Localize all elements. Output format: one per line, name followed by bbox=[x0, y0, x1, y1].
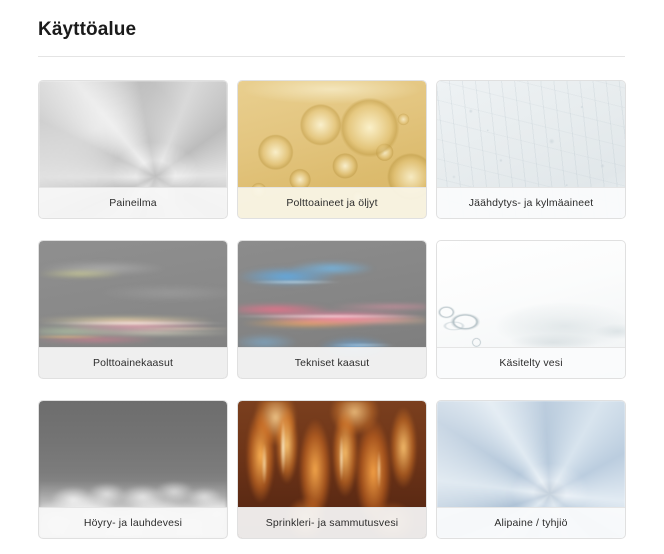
card-label: Jäähdytys- ja kylmäaineet bbox=[437, 187, 625, 218]
page-title: Käyttöalue bbox=[38, 18, 626, 42]
card-hoyry-ja-lauhdevesi[interactable]: Höyry- ja lauhdevesi bbox=[38, 400, 228, 539]
page-header: Käyttöalue bbox=[0, 0, 664, 57]
card-alipaine-tyhjio[interactable]: Alipaine / tyhjiö bbox=[436, 400, 626, 539]
card-label: Polttoaineet ja öljyt bbox=[238, 187, 426, 218]
card-kasitelty-vesi[interactable]: Käsitelty vesi bbox=[436, 240, 626, 379]
title-divider bbox=[38, 56, 625, 57]
card-label: Paineilma bbox=[39, 187, 227, 218]
card-jaahdytys-ja-kylmaaineet[interactable]: Jäähdytys- ja kylmäaineet bbox=[436, 80, 626, 219]
card-paineilma[interactable]: Paineilma bbox=[38, 80, 228, 219]
card-label: Alipaine / tyhjiö bbox=[437, 507, 625, 538]
card-label: Höyry- ja lauhdevesi bbox=[39, 507, 227, 538]
card-polttoainekaasut[interactable]: Polttoainekaasut bbox=[38, 240, 228, 379]
card-tekniset-kaasut[interactable]: Tekniset kaasut bbox=[237, 240, 427, 379]
application-area-card-grid: Paineilma Polttoaineet ja öljyt Jäähdyty… bbox=[38, 80, 626, 539]
card-polttoaineet-ja-oljyt[interactable]: Polttoaineet ja öljyt bbox=[237, 80, 427, 219]
card-label: Käsitelty vesi bbox=[437, 347, 625, 378]
card-label: Tekniset kaasut bbox=[238, 347, 426, 378]
application-page: Käyttöalue Paineilma Polttoaineet ja ölj… bbox=[0, 0, 664, 554]
card-label: Polttoainekaasut bbox=[39, 347, 227, 378]
card-sprinkleri-ja-sammutusvesi[interactable]: Sprinkleri- ja sammutusvesi bbox=[237, 400, 427, 539]
card-label: Sprinkleri- ja sammutusvesi bbox=[238, 507, 426, 538]
